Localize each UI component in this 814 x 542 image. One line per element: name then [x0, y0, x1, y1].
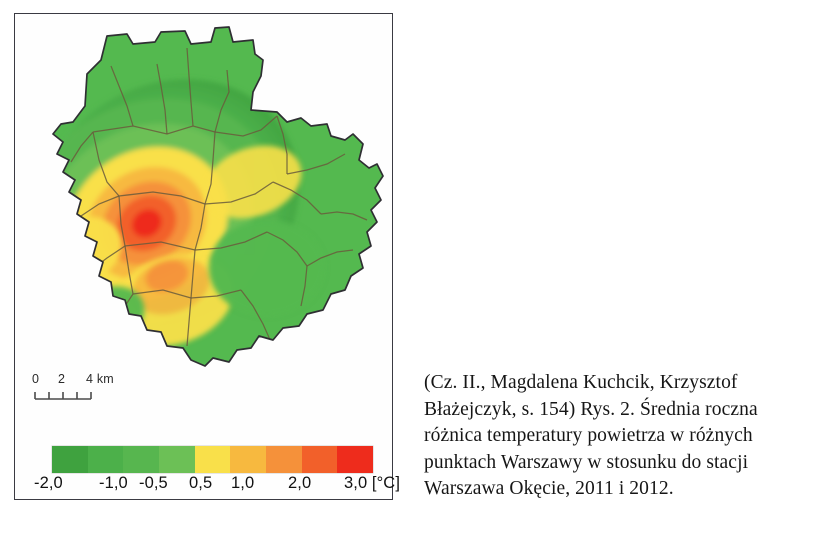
- legend-label-0-5: 0,5: [189, 474, 212, 493]
- legend-label-minus-0-5: -0,5: [139, 474, 168, 493]
- legend-band-7: [266, 446, 302, 473]
- caption-line-5: Warszawa Okęcie, 2011 i 2012.: [424, 476, 806, 503]
- legend-label-1-0: 1,0: [231, 474, 254, 493]
- caption-line-2: Błażejczyk, s. 154) Rys. 2. Średnia rocz…: [424, 397, 806, 424]
- legend-band-5: [195, 446, 231, 473]
- caption-line-3: różnica temperatury powietrza w różnych: [424, 423, 806, 450]
- legend-label-2-0: 2,0: [288, 474, 311, 493]
- legend-band-1: [52, 446, 88, 473]
- legend-label-minus-1: -1,0: [99, 474, 128, 493]
- heat-island-map: [15, 14, 392, 374]
- figure-caption: (Cz. II., Magdalena Kuchcik, Krzysztof B…: [424, 370, 806, 503]
- document-page: 0 2 4 km: [0, 0, 814, 542]
- caption-line-4: punktach Warszawy w stosunku do stacji: [424, 450, 806, 477]
- figure-container: 0 2 4 km: [14, 13, 393, 500]
- legend-colorbar: [52, 446, 373, 473]
- scale-tick-0: 0: [32, 372, 39, 386]
- scale-bar-labels: 0 2 4 km: [32, 372, 142, 389]
- map-scale-bar: 0 2 4 km: [32, 372, 142, 412]
- legend-band-8: [302, 446, 338, 473]
- caption-line-1: (Cz. II., Magdalena Kuchcik, Krzysztof: [424, 370, 806, 397]
- legend-band-9: [337, 446, 373, 473]
- scale-tick-4-km: 4 km: [86, 372, 114, 386]
- legend-band-4: [159, 446, 195, 473]
- legend-band-6: [230, 446, 266, 473]
- legend-tick-labels: -2,0 -1,0 -0,5 0,5 1,0 2,0 3,0 [°C]: [34, 474, 374, 498]
- legend-band-3: [123, 446, 159, 473]
- scale-bar-ticks: [32, 391, 142, 403]
- legend-label-minus-2: -2,0: [34, 474, 63, 493]
- scale-tick-2: 2: [58, 372, 65, 386]
- scale-bar-ticks-svg: [32, 391, 118, 402]
- legend-band-2: [88, 446, 124, 473]
- temperature-legend: -2,0 -1,0 -0,5 0,5 1,0 2,0 3,0 [°C]: [34, 446, 374, 498]
- legend-label-3-0-celsius: 3,0 [°C]: [344, 474, 400, 493]
- map-svg: [15, 14, 392, 374]
